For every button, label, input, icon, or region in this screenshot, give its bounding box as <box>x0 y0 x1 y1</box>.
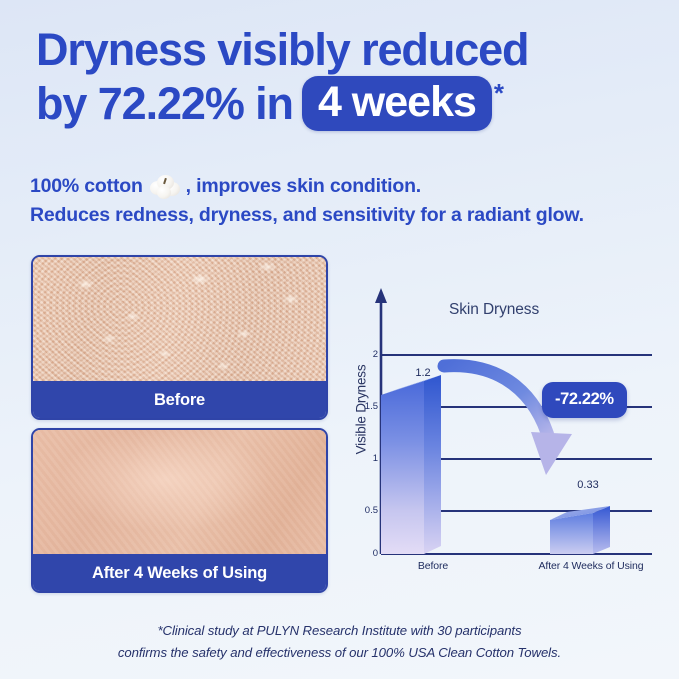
bar-value-after: 0.33 <box>558 479 618 491</box>
chart-bar-before <box>381 375 441 554</box>
y-tick-1-5: 1.5 <box>356 401 378 412</box>
subcopy-line-1: 100% cotton , improves skin condition. <box>30 172 660 201</box>
headline-line-2: by 72.22% in 4 weeks * <box>36 76 656 131</box>
footnote-block: *Clinical study at PULYN Research Instit… <box>0 620 679 664</box>
subcopy-line-1-suffix: , improves skin condition. <box>186 172 421 201</box>
chart-y-tick-labels: 2 1.5 1 0.5 0 <box>352 282 378 582</box>
y-tick-2: 2 <box>356 349 378 360</box>
smooth-skin-closeup-image <box>33 430 326 554</box>
y-tick-0: 0 <box>356 548 378 559</box>
x-label-before: Before <box>388 560 478 572</box>
before-card: Before <box>31 255 328 420</box>
before-card-label: Before <box>33 381 326 420</box>
chart-bar-after <box>550 506 610 554</box>
headline-asterisk: * <box>494 80 503 106</box>
after-card-label: After 4 Weeks of Using <box>33 554 326 593</box>
reduction-badge: -72.22% <box>542 382 627 418</box>
chart-canvas <box>340 282 675 582</box>
subcopy-line-2: Reduces redness, dryness, and sensitivit… <box>30 201 660 230</box>
y-tick-1: 1 <box>356 453 378 464</box>
footnote-line-1: *Clinical study at PULYN Research Instit… <box>0 620 679 642</box>
after-card: After 4 Weeks of Using <box>31 428 328 593</box>
footnote-line-2: confirms the safety and effectiveness of… <box>0 642 679 664</box>
weeks-badge: 4 weeks <box>302 76 492 131</box>
headline-block: Dryness visibly reduced by 72.22% in 4 w… <box>36 24 656 131</box>
headline-line-1: Dryness visibly reduced <box>36 24 656 76</box>
bar-value-before: 1.2 <box>393 367 453 379</box>
cotton-boll-icon <box>149 174 183 200</box>
subcopy-block: 100% cotton , improves skin condition. R… <box>30 172 660 230</box>
skin-dryness-chart: Skin Dryness Visible Dryness 2 1.5 1 0.5… <box>340 282 675 582</box>
infographic-page: Dryness visibly reduced by 72.22% in 4 w… <box>0 0 679 679</box>
subcopy-line-1-prefix: 100% cotton <box>30 172 143 201</box>
y-tick-0-5: 0.5 <box>356 505 378 516</box>
headline-line-2-text: by 72.22% in <box>36 78 293 130</box>
x-label-after: After 4 Weeks of Using <box>516 560 666 572</box>
dry-skin-closeup-image <box>33 257 326 381</box>
chart-title: Skin Dryness <box>449 301 539 319</box>
